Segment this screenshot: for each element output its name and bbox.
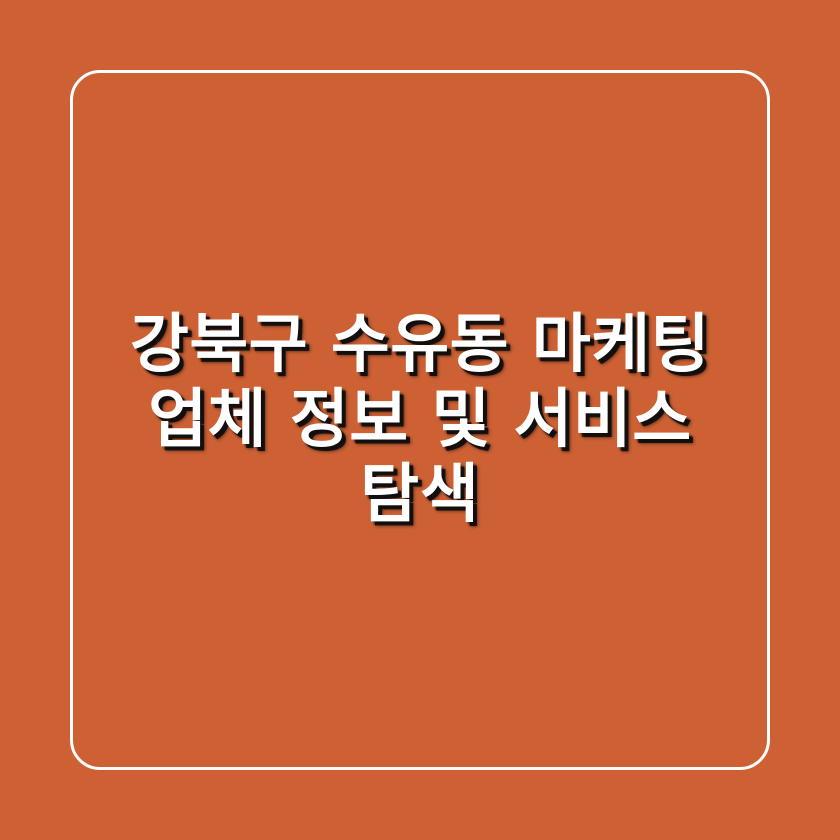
thumbnail-canvas: 강북구 수유동 마케팅 업체 정보 및 서비스 탐색 (0, 0, 840, 840)
title-line-3: 탐색 (106, 458, 734, 533)
card-frame-border: 강북구 수유동 마케팅 업체 정보 및 서비스 탐색 (70, 70, 770, 770)
title-line-2: 업체 정보 및 서비스 (106, 383, 734, 458)
page-title: 강북구 수유동 마케팅 업체 정보 및 서비스 탐색 (100, 308, 740, 533)
title-line-1: 강북구 수유동 마케팅 (106, 308, 734, 383)
